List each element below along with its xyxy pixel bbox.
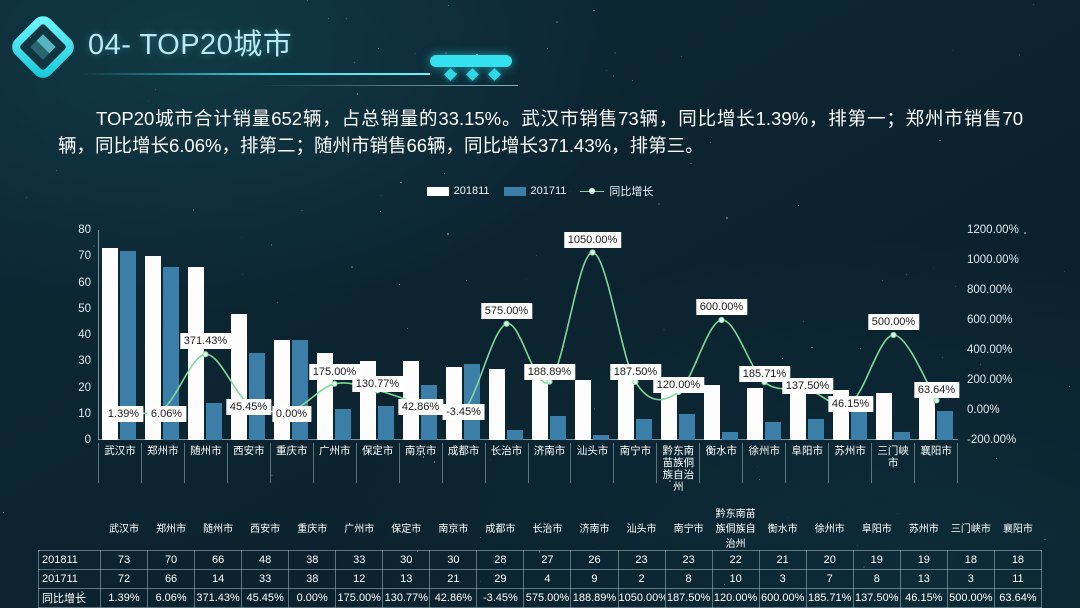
table-column-header: 随州市 (195, 505, 242, 551)
table-cell: 28 (477, 551, 524, 570)
table-cell: 575.00% (524, 589, 571, 608)
y-axis-right-tick: 600.00% (967, 314, 1012, 326)
growth-value-label: 500.00% (868, 314, 919, 330)
data-table: 武汉市郑州市随州市西安市重庆市广州市保定市南京市成都市长治市济南市汕头市南宁市黔… (38, 505, 1042, 608)
table-column-header: 济南市 (571, 505, 618, 551)
table-corner-cell (39, 505, 101, 551)
table-column-header: 衡水市 (759, 505, 806, 551)
growth-value-label: 42.86% (398, 399, 443, 415)
table-cell: 38 (289, 570, 336, 589)
table-column-header: 汕头市 (618, 505, 665, 551)
x-axis-category-label: 保定市 (356, 443, 399, 483)
growth-value-label: 45.45% (226, 399, 271, 415)
table-cell: 137.50% (853, 589, 900, 608)
table-cell: 27 (524, 551, 571, 570)
x-axis-category-label: 成都市 (442, 443, 485, 483)
table-column-header: 武汉市 (101, 505, 148, 551)
table-cell: 19 (900, 551, 947, 570)
growth-value-label: 120.00% (653, 377, 704, 393)
table-cell: 3 (947, 570, 994, 589)
y-axis-left-tick: 20 (78, 382, 91, 394)
growth-value-label: 1.39% (104, 406, 143, 422)
table-cell: 500.00% (947, 589, 994, 608)
table-cell: 48 (242, 551, 289, 570)
table-cell: 33 (242, 570, 289, 589)
x-axis-category-label: 黔东南苗族侗族自治州 (656, 443, 699, 483)
table-cell: 66 (148, 570, 195, 589)
x-axis-category-label: 衡水市 (699, 443, 742, 483)
star-particle (690, 163, 692, 165)
growth-value-label: 188.89% (524, 364, 575, 380)
chart-legend: 201811 201711 同比增长 (0, 183, 1080, 199)
x-axis-category-label: 广州市 (313, 443, 356, 483)
table-column-header: 三门峡市 (947, 505, 994, 551)
decor-capsule (430, 55, 512, 67)
table-column-header: 广州市 (336, 505, 383, 551)
table-cell: 46.15% (900, 589, 947, 608)
table-cell: 13 (383, 570, 430, 589)
table-cell: 42.86% (430, 589, 477, 608)
table-cell: 21 (759, 551, 806, 570)
title-underline-secondary (258, 85, 518, 86)
table-cell: 45.45% (242, 589, 289, 608)
growth-data-point (719, 317, 724, 322)
y-axis-left-tick: 60 (78, 277, 91, 289)
x-axis-category-labels: 武汉市郑州市随州市西安市重庆市广州市保定市南京市成都市长治市济南市汕头市南宁市黔… (98, 443, 958, 483)
table-column-header: 黔东南苗族侗族自治州 (712, 505, 759, 551)
table-cell: 70 (148, 551, 195, 570)
table-row-header: 201711 (39, 570, 101, 589)
x-axis-category-label: 汕头市 (570, 443, 613, 483)
y-axis-left-tick: 40 (78, 329, 91, 341)
table-cell: 11 (994, 570, 1041, 589)
legend-item-201711[interactable]: 201711 (504, 185, 567, 197)
table-cell: 22 (712, 551, 759, 570)
table-row: 同比增长1.39%6.06%371.43%45.45%0.00%175.00%1… (39, 589, 1042, 608)
x-axis-category-label: 三门峡市 (871, 443, 914, 483)
y-axis-right-tick: 1000.00% (967, 254, 1019, 266)
growth-value-label: 600.00% (696, 299, 747, 315)
x-axis-category-label: 西安市 (227, 443, 270, 483)
growth-data-point (504, 321, 509, 326)
table-cell: 185.71% (806, 589, 853, 608)
table-cell: 29 (477, 570, 524, 589)
diamond-cube-logo-icon (12, 16, 74, 78)
table-cell: 30 (383, 551, 430, 570)
table-cell: 13 (900, 570, 947, 589)
growth-value-label: 1050.00% (564, 232, 622, 248)
y-axis-left-tick: 10 (78, 408, 91, 420)
growth-data-point (934, 398, 939, 403)
table-cell: 10 (712, 570, 759, 589)
growth-data-point (590, 250, 595, 255)
y-axis-right-tick: -200.00% (967, 434, 1016, 446)
table-cell: 187.50% (665, 589, 712, 608)
x-axis-category-label: 南京市 (399, 443, 442, 483)
slide-header: 04- TOP20城市 (0, 0, 1080, 96)
x-axis-category-label: 南宁市 (613, 443, 656, 483)
growth-data-point (332, 381, 337, 386)
table-cell: 20 (806, 551, 853, 570)
x-axis-category-label: 武汉市 (98, 443, 141, 483)
table-column-header: 襄阳市 (994, 505, 1041, 551)
growth-value-label: 575.00% (481, 303, 532, 319)
x-axis-category-label: 郑州市 (141, 443, 184, 483)
table-column-header: 苏州市 (900, 505, 947, 551)
star-particle (148, 100, 150, 102)
y-axis-right-tick: 0.00% (967, 404, 1000, 416)
table-cell: 4 (524, 570, 571, 589)
growth-value-label: -3.45% (442, 404, 485, 420)
x-axis-category-label: 阜阳市 (785, 443, 828, 483)
table-row-header: 201811 (39, 551, 101, 570)
table-cell: 26 (571, 551, 618, 570)
table-header-row: 武汉市郑州市随州市西安市重庆市广州市保定市南京市成都市长治市济南市汕头市南宁市黔… (39, 505, 1042, 551)
table-column-header: 徐州市 (806, 505, 853, 551)
page-title: 04- TOP20城市 (88, 21, 292, 63)
table-column-header: 长治市 (524, 505, 571, 551)
table-cell: 21 (430, 570, 477, 589)
y-axis-left-tick: 0 (85, 434, 91, 446)
table-cell: 12 (336, 570, 383, 589)
y-axis-left-tick: 30 (78, 355, 91, 367)
growth-value-label: 6.06% (147, 406, 186, 422)
table-column-header: 阜阳市 (853, 505, 900, 551)
star-particle (56, 170, 57, 171)
legend-label-201711: 201711 (531, 185, 567, 197)
x-axis-category-label: 长治市 (485, 443, 528, 483)
table-row: 2018117370664838333030282726232322212019… (39, 551, 1042, 570)
legend-item-growth[interactable]: 同比增长 (580, 183, 653, 199)
legend-label-201811: 201811 (454, 185, 490, 197)
plot-area: 1.39%6.06%371.43%45.45%0.00%175.00%130.7… (98, 230, 958, 440)
legend-swatch-201711 (504, 187, 526, 196)
table-cell: 8 (665, 570, 712, 589)
table-row: 20171172661433381213212949281037813311 (39, 570, 1042, 589)
table-cell: 1.39% (101, 589, 148, 608)
table-cell: 72 (101, 570, 148, 589)
y-axis-right-tick: 800.00% (967, 284, 1012, 296)
star-particle (3, 512, 4, 513)
growth-value-label: 63.64% (914, 382, 959, 398)
table-cell: 6.06% (148, 589, 195, 608)
growth-data-point (633, 379, 638, 384)
star-particle (1044, 539, 1045, 540)
y-axis-right-tick: 1200.00% (967, 224, 1019, 236)
table-cell: 175.00% (336, 589, 383, 608)
table-column-header: 南京市 (430, 505, 477, 551)
x-axis-category-label: 重庆市 (270, 443, 313, 483)
table-cell: 1050.00% (618, 589, 665, 608)
y-axis-left-tick: 50 (78, 303, 91, 315)
y-axis-right-tick: 400.00% (967, 344, 1012, 356)
y-axis-left-tick: 80 (78, 224, 91, 236)
table-column-header: 成都市 (477, 505, 524, 551)
decor-diamond-3-icon (488, 68, 501, 81)
table-column-header: 西安市 (242, 505, 289, 551)
table-cell: 120.00% (712, 589, 759, 608)
table-cell: 600.00% (759, 589, 806, 608)
growth-value-label: 0.00% (272, 406, 311, 422)
table-cell: 7 (806, 570, 853, 589)
table-column-header: 南宁市 (665, 505, 712, 551)
x-axis-category-label: 徐州市 (742, 443, 785, 483)
table-cell: 30 (430, 551, 477, 570)
legend-item-201811[interactable]: 201811 (427, 185, 490, 197)
table-cell: 19 (853, 551, 900, 570)
table-cell: 18 (994, 551, 1041, 570)
table-cell: 18 (947, 551, 994, 570)
table-column-header: 保定市 (383, 505, 430, 551)
decor-diamond-2-icon (466, 68, 479, 81)
table-cell: 33 (336, 551, 383, 570)
y-axis-left-tick: 70 (78, 250, 91, 262)
table-cell: 371.43% (195, 589, 242, 608)
growth-value-label: 371.43% (180, 333, 231, 349)
table-cell: 9 (571, 570, 618, 589)
table-cell: 2 (618, 570, 665, 589)
table-cell: 23 (618, 551, 665, 570)
growth-value-label: 130.77% (352, 376, 403, 392)
title-underline-primary (80, 73, 430, 75)
x-axis-category-label: 苏州市 (828, 443, 871, 483)
table-cell: 3 (759, 570, 806, 589)
growth-value-label: 46.15% (828, 396, 873, 412)
table-column-header: 重庆市 (289, 505, 336, 551)
summary-paragraph: TOP20城市合计销量652辆，占总销量的33.15%。武汉市销售73辆，同比增… (58, 105, 1023, 159)
table-row-header: 同比增长 (39, 589, 101, 608)
table-column-header: 郑州市 (148, 505, 195, 551)
growth-value-label: 137.50% (782, 378, 833, 394)
data-table-grid: 武汉市郑州市随州市西安市重庆市广州市保定市南京市成都市长治市济南市汕头市南宁市黔… (38, 505, 1042, 608)
growth-data-point (203, 352, 208, 357)
table-cell: 14 (195, 570, 242, 589)
table-cell: 0.00% (289, 589, 336, 608)
growth-data-point (891, 332, 896, 337)
table-cell: 73 (101, 551, 148, 570)
decor-diamond-1-icon (444, 68, 457, 81)
combo-chart: 201811 201711 同比增长 1.39%6.06%371.43%45.4… (0, 175, 1080, 485)
table-cell: 130.77% (383, 589, 430, 608)
x-axis-category-label: 襄阳市 (914, 443, 958, 483)
table-cell: -3.45% (477, 589, 524, 608)
y-axis-right-tick: 200.00% (967, 374, 1012, 386)
table-cell: 188.89% (571, 589, 618, 608)
table-cell: 38 (289, 551, 336, 570)
x-axis-category-label: 济南市 (528, 443, 571, 483)
table-cell: 8 (853, 570, 900, 589)
table-cell: 63.64% (994, 589, 1041, 608)
legend-label-growth: 同比增长 (609, 183, 653, 199)
table-cell: 66 (195, 551, 242, 570)
x-axis-category-label: 随州市 (184, 443, 227, 483)
legend-swatch-growth (580, 187, 604, 196)
legend-swatch-201811 (427, 187, 449, 196)
table-cell: 23 (665, 551, 712, 570)
